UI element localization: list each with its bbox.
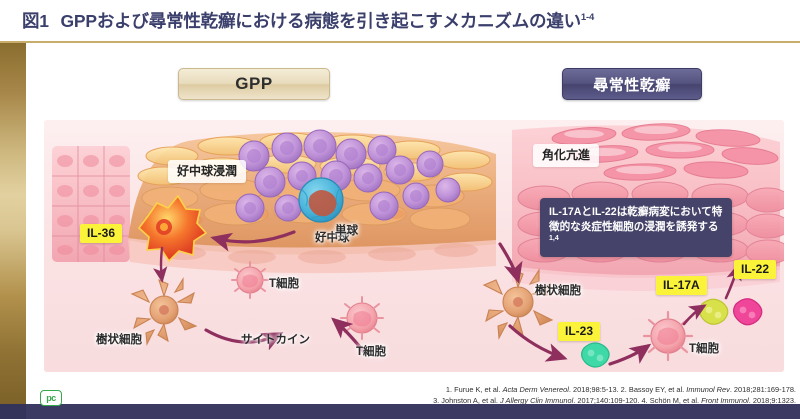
- arrow-il36-to-dendritic: [161, 248, 162, 280]
- label-t-cell-right: T細胞: [689, 342, 719, 356]
- monocyte-cell: [299, 178, 343, 222]
- label-t-cell-left: T細胞: [269, 277, 299, 291]
- label-dendritic-cell-right: 樹状細胞: [535, 284, 581, 298]
- note-box-text: IL-17AとIL-22は乾癬病変において特徴的な炎症性細胞の浸潤を誘発する: [549, 206, 722, 233]
- panel-pill-psoriasis-label: 尋常性乾癬: [593, 74, 671, 95]
- label-hyperkeratosis: 角化亢進: [533, 144, 599, 167]
- reference-line-1: 1. Furue K, et al. Acta Derm Venereol. 2…: [372, 384, 796, 395]
- label-il36-badge: IL-36: [80, 224, 122, 243]
- title-bar: 図1 GPPおよび尋常性乾癬における病態を引き起こすメカニズムの違い1-4: [0, 0, 800, 41]
- figure-label: 図1: [22, 11, 49, 31]
- il17a-molecule-icon: [700, 299, 728, 324]
- slide-root: 図1 GPPおよび尋常性乾癬における病態を引き起こすメカニズムの違い1-4 GP…: [0, 0, 800, 419]
- note-box-superscript: 1,4: [549, 235, 559, 242]
- label-dendritic-cell-left: 樹状細胞: [96, 333, 142, 347]
- panel-pill-gpp-label: GPP: [235, 74, 272, 94]
- pc-logo-text: pc: [46, 393, 56, 403]
- label-cytokine: サイトカイン: [241, 333, 310, 347]
- label-il22-badge: IL-22: [734, 260, 776, 279]
- label-monocyte: 単球: [335, 224, 358, 238]
- label-t-cell-center: T細胞: [356, 345, 386, 359]
- footer-bar-left-cap: [0, 404, 26, 419]
- il23-molecule-icon: [582, 343, 609, 367]
- left-gold-bar: [0, 43, 26, 404]
- title-superscript: 1-4: [581, 12, 594, 23]
- note-box-il17a-il22: IL-17AとIL-22は乾癬病変において特徴的な炎症性細胞の浸潤を誘発する1,…: [540, 198, 732, 257]
- title-divider: [0, 41, 800, 43]
- label-neutrophil-infiltration: 好中球浸潤: [168, 160, 246, 183]
- panel-pill-psoriasis: 尋常性乾癬: [562, 68, 702, 100]
- panel-pill-gpp: GPP: [178, 68, 330, 100]
- epidermis-normal-left: [52, 146, 130, 262]
- footer-bar: [0, 404, 800, 419]
- label-il17a-badge: IL-17A: [656, 276, 707, 295]
- title-main: GPPおよび尋常性乾癬における病態を引き起こすメカニズムの違い: [61, 11, 581, 31]
- pc-logo: pc: [40, 390, 62, 406]
- page-title: 図1 GPPおよび尋常性乾癬における病態を引き起こすメカニズムの違い1-4: [22, 8, 594, 33]
- label-il23-badge: IL-23: [558, 322, 600, 341]
